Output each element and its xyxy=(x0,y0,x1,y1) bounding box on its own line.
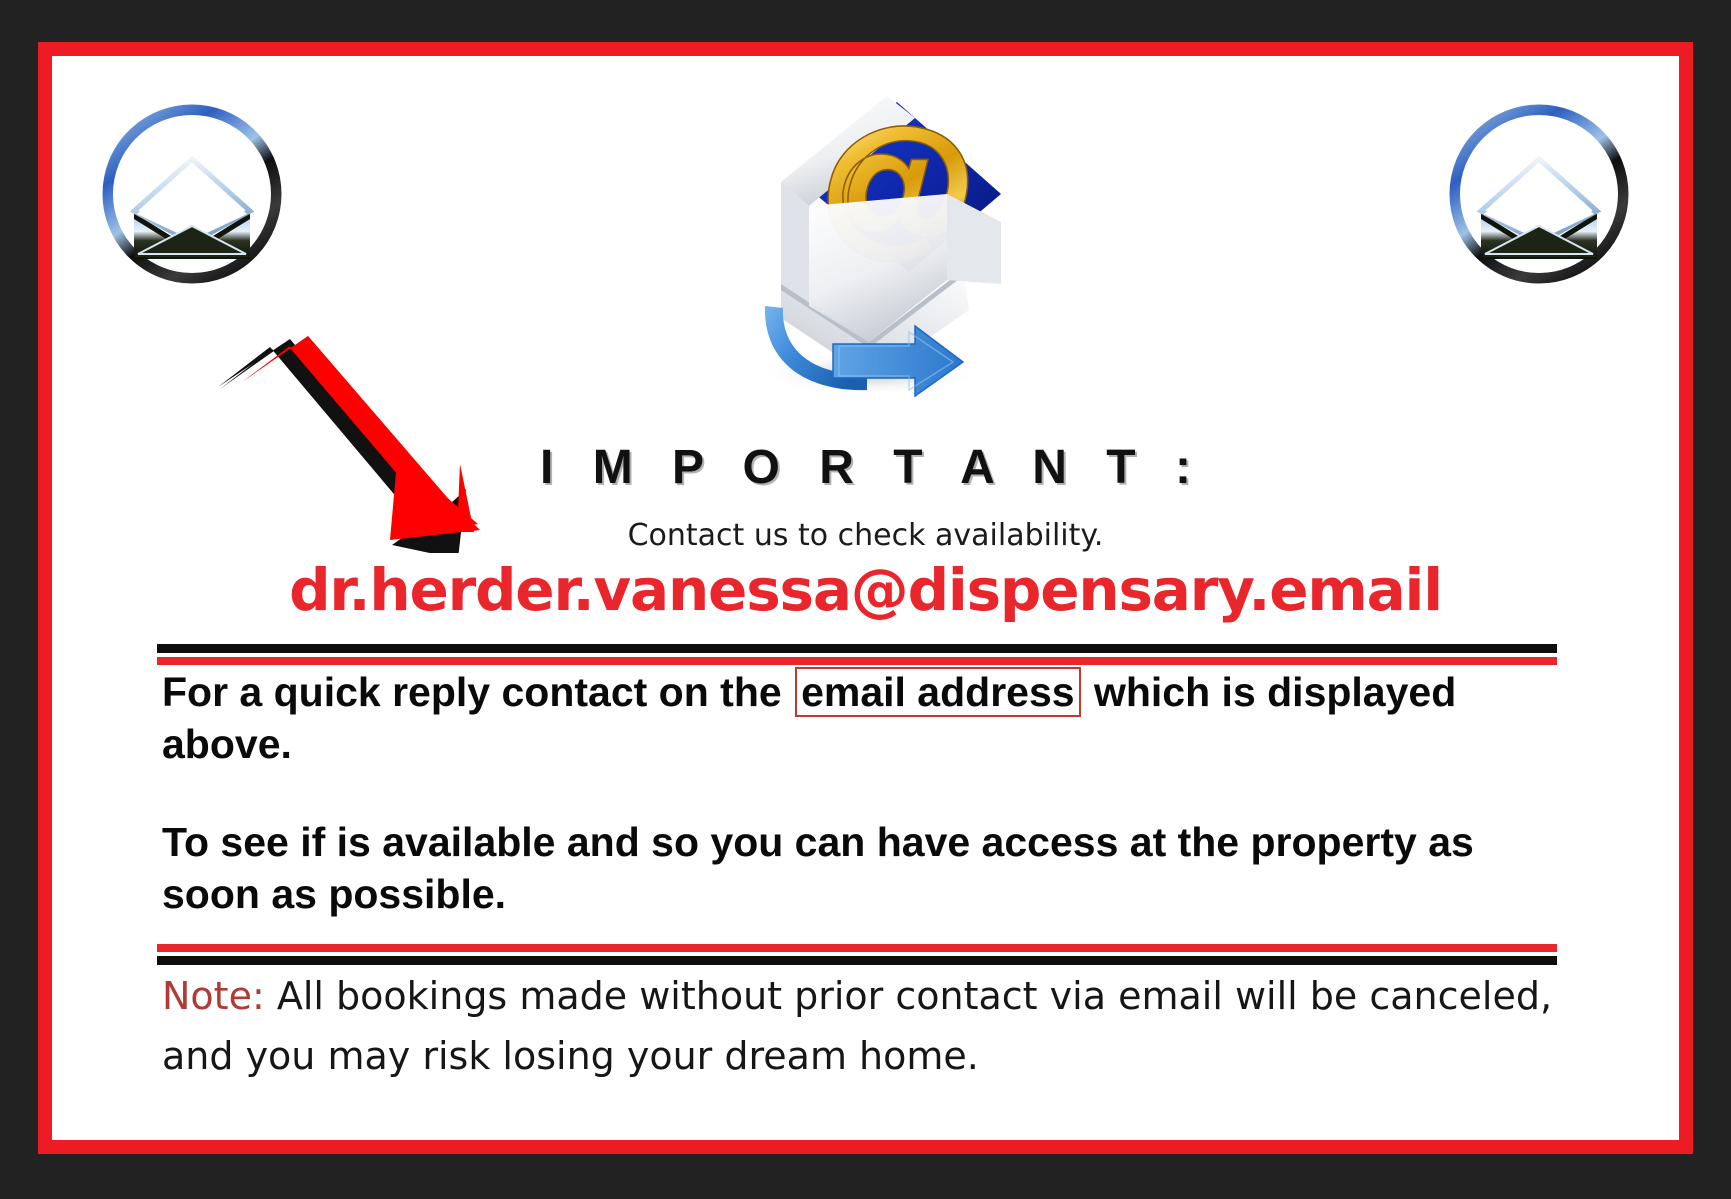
paragraph-availability: To see if is available and so you can ha… xyxy=(162,816,1562,920)
boxed-email-address-phrase: email address xyxy=(795,667,1081,717)
flyer-card-red-border: I M P O R T A N T : Contact us to check … xyxy=(38,42,1693,1154)
note-label: Note: xyxy=(162,974,265,1018)
divider-bar-black xyxy=(157,956,1557,965)
email-address[interactable]: dr.herder.vanessa@dispensary.email xyxy=(52,556,1679,624)
divider-bar-red xyxy=(157,944,1557,952)
envelope-circle-icon-left xyxy=(97,101,287,287)
subtitle: Contact us to check availability. xyxy=(52,518,1679,553)
divider-top xyxy=(157,644,1557,665)
page-title: I M P O R T A N T : xyxy=(52,440,1679,495)
paragraph-1-before: For a quick reply contact on the xyxy=(162,669,782,715)
divider-bar-red xyxy=(157,657,1557,665)
note-block: Note: All bookings made without prior co… xyxy=(162,966,1562,1086)
divider-bottom xyxy=(157,944,1557,965)
flyer-card-inner: I M P O R T A N T : Contact us to check … xyxy=(52,56,1679,1140)
paragraph-quick-reply: For a quick reply contact on the email a… xyxy=(162,666,1562,770)
envelope-circle-icon-right xyxy=(1444,101,1634,287)
flyer-root: I M P O R T A N T : Contact us to check … xyxy=(0,0,1731,1199)
at-symbol-envelope-icon xyxy=(701,74,1031,404)
note-text: All bookings made without prior contact … xyxy=(162,974,1552,1078)
divider-bar-black xyxy=(157,644,1557,653)
